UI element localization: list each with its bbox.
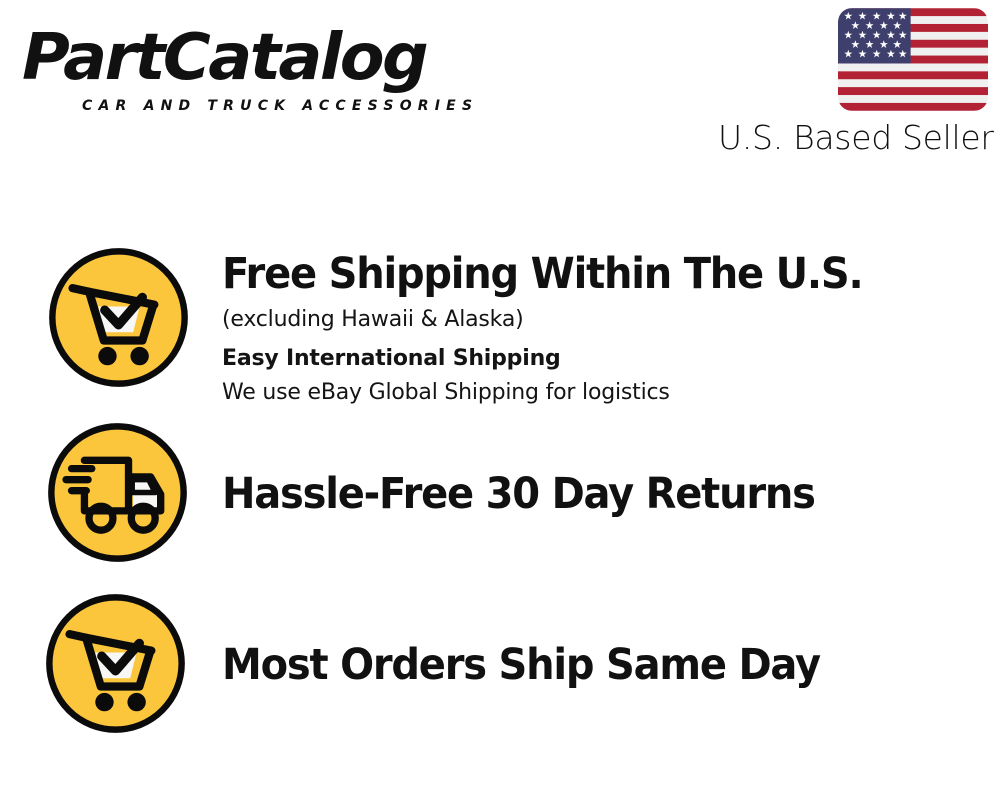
feature-text-block: Free Shipping Within The U.S. (excluding… xyxy=(222,248,990,409)
feature-subtitle-bold: Easy International Shipping xyxy=(222,343,990,375)
feature-item-returns: Hassle-Free 30 Day Returns xyxy=(0,420,1000,592)
feature-list: Free Shipping Within The U.S. (excluding… xyxy=(0,0,1000,800)
feature-text-block: Most Orders Ship Same Day xyxy=(222,639,990,691)
feature-title: Hassle-Free 30 Day Returns xyxy=(222,468,936,520)
shopping-cart-check-icon xyxy=(45,244,192,391)
feature-title: Free Shipping Within The U.S. xyxy=(222,248,936,300)
feature-title: Most Orders Ship Same Day xyxy=(222,639,936,691)
feature-subtitle: (excluding Hawaii & Alaska) xyxy=(222,304,990,336)
delivery-truck-icon xyxy=(44,419,191,566)
feature-item-same-day-ship: Most Orders Ship Same Day xyxy=(0,591,1000,763)
feature-subtitle-detail: We use eBay Global Shipping for logistic… xyxy=(222,377,990,409)
feature-text-block: Hassle-Free 30 Day Returns xyxy=(222,468,990,520)
feature-item-free-shipping: Free Shipping Within The U.S. (excluding… xyxy=(0,248,1000,420)
shopping-cart-check-icon xyxy=(42,590,189,737)
